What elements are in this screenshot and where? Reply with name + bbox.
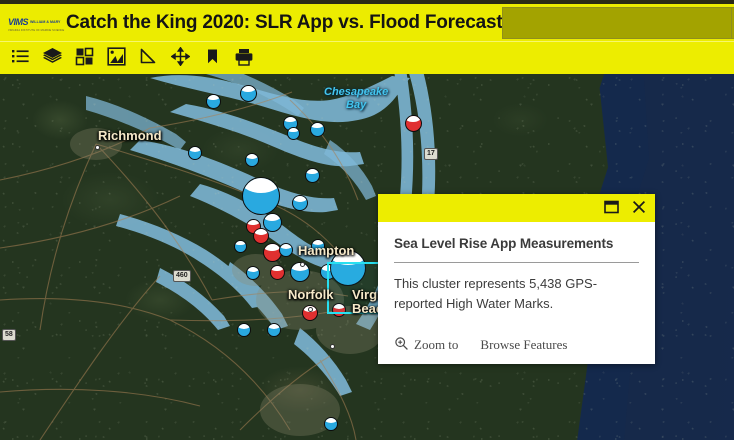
close-icon bbox=[632, 200, 646, 217]
toolbar-button-basemap-gallery[interactable] bbox=[70, 44, 98, 72]
map-marker-blue[interactable] bbox=[234, 240, 247, 253]
map-marker-blue[interactable] bbox=[246, 266, 260, 280]
map-marker-blue[interactable] bbox=[292, 195, 308, 211]
marker-wave-icon bbox=[245, 154, 259, 159]
map-marker-blue[interactable] bbox=[310, 122, 325, 137]
map-marker-blue[interactable] bbox=[206, 94, 221, 109]
layers-icon bbox=[42, 46, 63, 70]
bookmark-icon bbox=[203, 47, 222, 69]
marker-wave-icon bbox=[305, 169, 320, 174]
marker-wave-icon bbox=[263, 214, 282, 221]
marker-wave-icon bbox=[240, 86, 257, 92]
map-marker-blue[interactable] bbox=[311, 239, 325, 253]
map-marker-red[interactable] bbox=[405, 115, 422, 132]
map-marker-blue[interactable] bbox=[279, 243, 293, 257]
marker-wave-icon bbox=[246, 220, 261, 225]
highway-shield-460: 460 bbox=[173, 270, 191, 282]
popup-titlebar bbox=[378, 194, 655, 222]
place-dot-hampton bbox=[300, 262, 305, 267]
marker-wave-icon bbox=[234, 241, 247, 246]
popup-description: This cluster represents 5,438 GPS-report… bbox=[394, 274, 639, 314]
marker-wave-icon bbox=[242, 178, 280, 193]
marker-wave-icon bbox=[270, 266, 285, 271]
toolbar-button-bookmark[interactable] bbox=[198, 44, 226, 72]
map-marker-blue[interactable] bbox=[324, 417, 338, 431]
magnifier-plus-icon bbox=[394, 336, 409, 355]
printer-icon bbox=[234, 47, 254, 70]
marker-wave-icon bbox=[206, 95, 221, 100]
marker-wave-icon bbox=[283, 117, 298, 122]
toolbar-button-legend[interactable] bbox=[6, 44, 34, 72]
swipe-icon bbox=[107, 47, 126, 69]
marker-wave-icon bbox=[310, 123, 325, 128]
logo-text: VIMS bbox=[8, 18, 28, 27]
place-dot-richmond bbox=[95, 145, 100, 150]
marker-wave-icon bbox=[311, 240, 325, 245]
marker-wave-icon bbox=[292, 196, 308, 202]
map-marker-red[interactable] bbox=[270, 265, 285, 280]
popup-body: Sea Level Rise App Measurements This clu… bbox=[378, 222, 655, 314]
app-header: VIMS VIRGINIA INSTITUTE OF MARINE SCIENC… bbox=[0, 4, 734, 41]
map-marker-blue[interactable] bbox=[305, 168, 320, 183]
map-marker-blue[interactable] bbox=[267, 323, 281, 337]
ruler-triangle-icon bbox=[139, 47, 158, 69]
popup-zoom-to-label: Zoom to bbox=[414, 337, 458, 353]
place-dot-norfolk bbox=[308, 307, 313, 312]
place-dot-virginia-beach bbox=[330, 344, 335, 349]
marker-wave-icon bbox=[279, 244, 293, 249]
marker-wave-icon bbox=[324, 418, 338, 423]
logo-subtext: VIRGINIA INSTITUTE OF MARINE SCIENCE bbox=[8, 29, 64, 32]
vims-logo: VIMS VIRGINIA INSTITUTE OF MARINE SCIENC… bbox=[8, 15, 56, 31]
map-marker-blue[interactable] bbox=[188, 146, 202, 160]
marker-wave-icon bbox=[267, 324, 281, 329]
popup-browse-features-link[interactable]: Browse Features bbox=[480, 337, 567, 353]
map-marker-blue[interactable] bbox=[242, 177, 280, 215]
highway-shield-17: 17 bbox=[424, 148, 438, 160]
popup-heading: Sea Level Rise App Measurements bbox=[394, 236, 639, 263]
search-input[interactable] bbox=[503, 8, 731, 38]
map-marker-blue[interactable] bbox=[287, 127, 300, 140]
marker-wave-icon bbox=[287, 128, 300, 133]
marker-wave-icon bbox=[405, 116, 422, 122]
popup-actions: Zoom to Browse Features bbox=[378, 326, 655, 364]
grid-icon bbox=[75, 47, 94, 69]
popup-close-button[interactable] bbox=[630, 199, 648, 217]
popup-browse-features-label: Browse Features bbox=[480, 337, 567, 353]
marker-wave-icon bbox=[188, 147, 202, 152]
toolbar-button-layer-list[interactable] bbox=[38, 44, 66, 72]
feature-popup: Sea Level Rise App Measurements This clu… bbox=[378, 194, 655, 364]
marker-wave-icon bbox=[246, 267, 260, 272]
map-marker-blue[interactable] bbox=[237, 323, 251, 337]
map-marker-blue[interactable] bbox=[263, 213, 282, 232]
popup-maximize-button[interactable] bbox=[602, 199, 620, 217]
search-box[interactable] bbox=[502, 7, 734, 39]
toolbar-button-swipe[interactable] bbox=[102, 44, 130, 72]
toolbar-button-pan[interactable] bbox=[166, 44, 194, 72]
map-marker-blue[interactable] bbox=[245, 153, 259, 167]
marker-wave-icon bbox=[237, 324, 251, 329]
toolbar-button-print[interactable] bbox=[230, 44, 258, 72]
map-marker-blue[interactable] bbox=[240, 85, 257, 102]
page-title: Catch the King 2020: SLR App vs. Flood F… bbox=[66, 12, 502, 34]
list-icon bbox=[11, 47, 30, 69]
arrows-move-icon bbox=[171, 47, 190, 69]
highway-shield-58: 58 bbox=[2, 329, 16, 341]
maximize-icon bbox=[604, 200, 619, 217]
popup-zoom-to-link[interactable]: Zoom to bbox=[394, 336, 458, 355]
logo-secondary-text: WILLIAM & MARY bbox=[30, 21, 60, 25]
toolbar-button-measurement[interactable] bbox=[134, 44, 162, 72]
app-window: Chesapeake Bay 17 58 460 Richmond Hampto… bbox=[0, 0, 734, 440]
map-toolbar bbox=[0, 41, 734, 74]
